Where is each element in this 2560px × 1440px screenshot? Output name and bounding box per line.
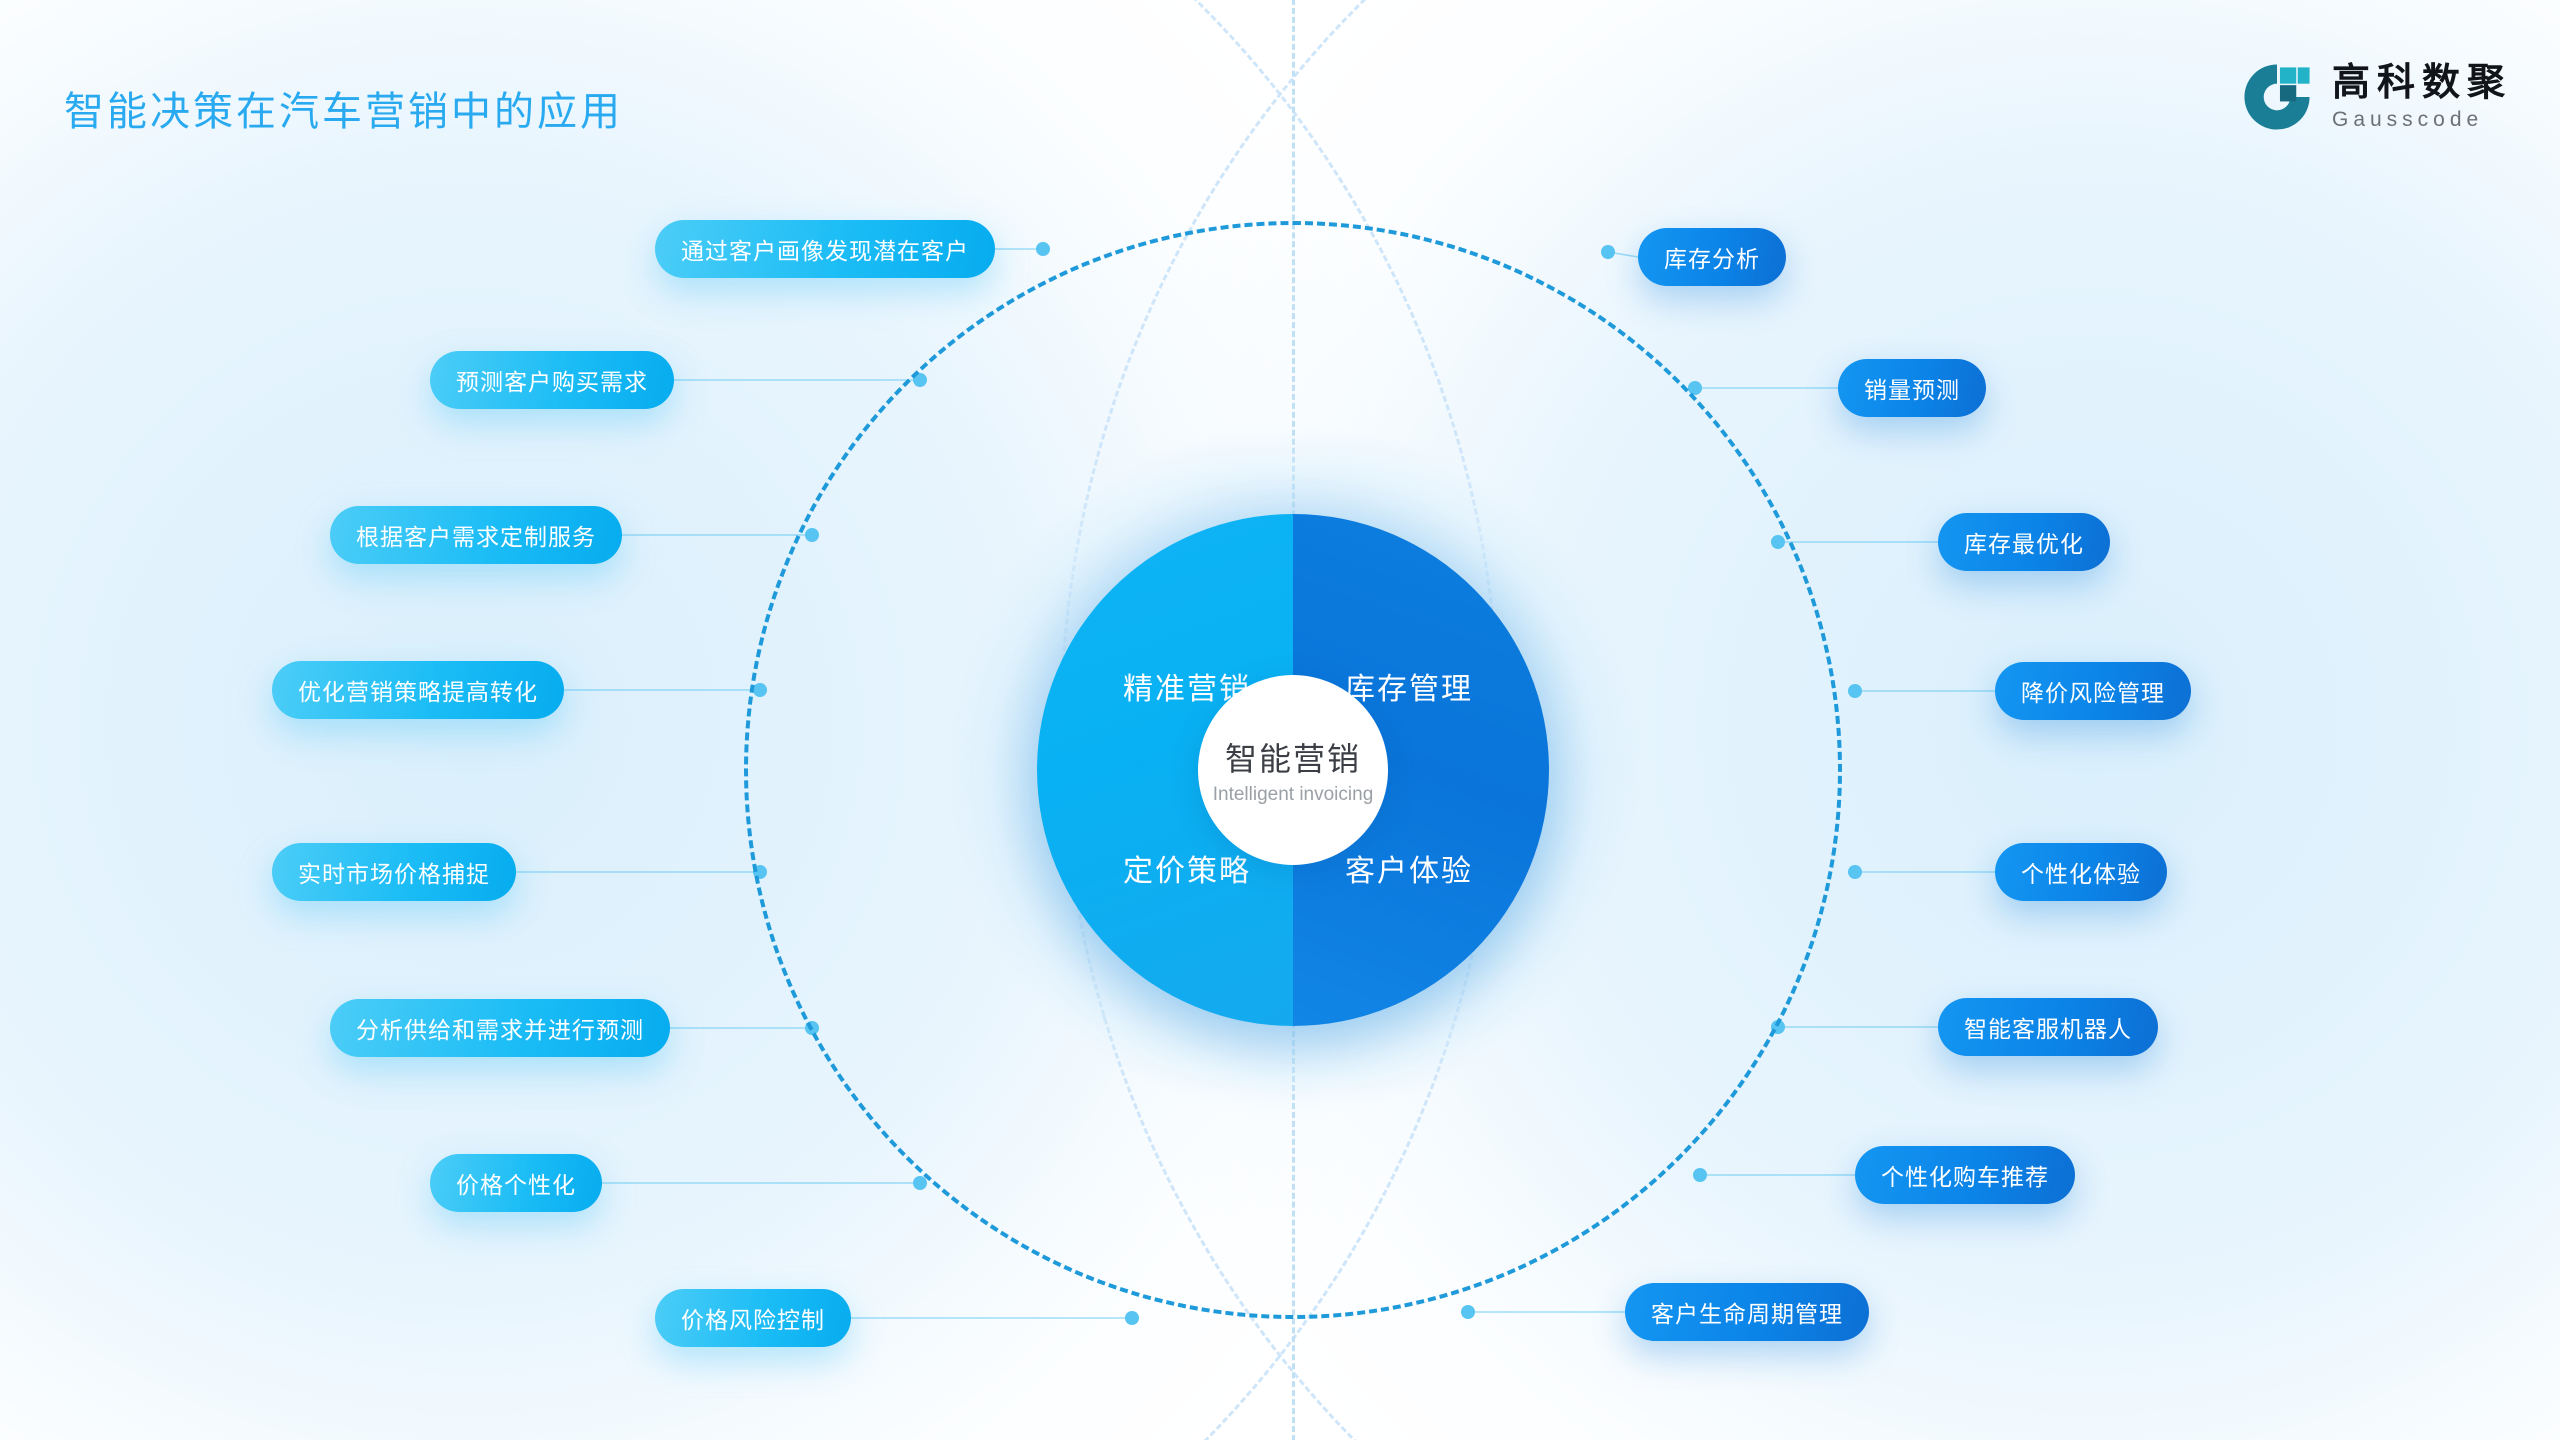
connector-node (1601, 245, 1615, 259)
quadrant-donut: 精准营销 库存管理 定价策略 客户体验 智能营销 Intelligent inv… (1037, 514, 1549, 1026)
connector-node (1848, 684, 1862, 698)
pill-label: 价格风险控制 (681, 1301, 825, 1335)
pill-label: 实时市场价格捕捉 (298, 855, 490, 889)
pill-label: 个性化购车推荐 (1881, 1158, 2049, 1192)
pill-label: 价格个性化 (456, 1166, 576, 1200)
connector-node (1693, 1168, 1707, 1182)
hub-core-title-en: Intelligent invoicing (1213, 784, 1374, 806)
pill-label: 根据客户需求定制服务 (356, 518, 596, 552)
quadrant-label-customer-experience: 客户体验 (1345, 846, 1473, 890)
left-pill-4[interactable]: 优化营销策略提高转化 (272, 661, 564, 719)
pill-label: 销量预测 (1864, 371, 1960, 405)
pill-label: 库存分析 (1664, 240, 1760, 274)
left-pill-6[interactable]: 分析供给和需求并进行预测 (330, 999, 670, 1057)
right-pill-2[interactable]: 销量预测 (1838, 359, 1986, 417)
logo-name-cn: 高科数聚 (2332, 64, 2512, 102)
left-pill-3[interactable]: 根据客户需求定制服务 (330, 506, 622, 564)
right-pill-6[interactable]: 智能客服机器人 (1938, 998, 2158, 1056)
page-title: 智能决策在汽车营销中的应用 (64, 79, 623, 137)
pill-label: 库存最优化 (1964, 525, 2084, 559)
left-pill-7[interactable]: 价格个性化 (430, 1154, 602, 1212)
pill-label: 分析供给和需求并进行预测 (356, 1011, 644, 1045)
left-pill-8[interactable]: 价格风险控制 (655, 1289, 851, 1347)
brand-logo: 高科数聚 Gausscode (2240, 60, 2512, 134)
right-pill-5[interactable]: 个性化体验 (1995, 843, 2167, 901)
pill-label: 预测客户购买需求 (456, 363, 648, 397)
quadrant-label-pricing-strategy: 定价策略 (1123, 846, 1251, 890)
right-pill-8[interactable]: 客户生命周期管理 (1625, 1283, 1869, 1341)
logo-name-en: Gausscode (2332, 109, 2512, 130)
connector-node (1036, 242, 1050, 256)
left-pill-1[interactable]: 通过客户画像发现潜在客户 (655, 220, 995, 278)
quadrant-label-inventory-management: 库存管理 (1345, 664, 1473, 708)
right-pill-3[interactable]: 库存最优化 (1938, 513, 2110, 571)
connector-node (1125, 1311, 1139, 1325)
pill-label: 降价风险管理 (2021, 674, 2165, 708)
right-pill-1[interactable]: 库存分析 (1638, 228, 1786, 286)
pill-label: 通过客户画像发现潜在客户 (681, 232, 969, 266)
hub-core-title-cn: 智能营销 (1225, 734, 1361, 780)
slide-canvas: 智能决策在汽车营销中的应用 高科数聚 Gausscode 精准营销 库存管理 定… (0, 0, 2560, 1440)
pill-label: 客户生命周期管理 (1651, 1295, 1843, 1329)
right-pill-7[interactable]: 个性化购车推荐 (1855, 1146, 2075, 1204)
connector-node (1461, 1305, 1475, 1319)
gausscode-logo-mark-icon (2240, 60, 2314, 134)
left-pill-5[interactable]: 实时市场价格捕捉 (272, 843, 516, 901)
connector-line (1608, 252, 1638, 257)
pill-label: 优化营销策略提高转化 (298, 673, 538, 707)
central-hub: 精准营销 库存管理 定价策略 客户体验 智能营销 Intelligent inv… (1037, 514, 1549, 1026)
pill-label: 个性化体验 (2021, 855, 2141, 889)
hub-core-circle: 智能营销 Intelligent invoicing (1198, 675, 1388, 865)
logo-wordmark: 高科数聚 Gausscode (2332, 64, 2512, 130)
right-pill-4[interactable]: 降价风险管理 (1995, 662, 2191, 720)
left-pill-2[interactable]: 预测客户购买需求 (430, 351, 674, 409)
connector-node (1848, 865, 1862, 879)
pill-label: 智能客服机器人 (1964, 1010, 2132, 1044)
